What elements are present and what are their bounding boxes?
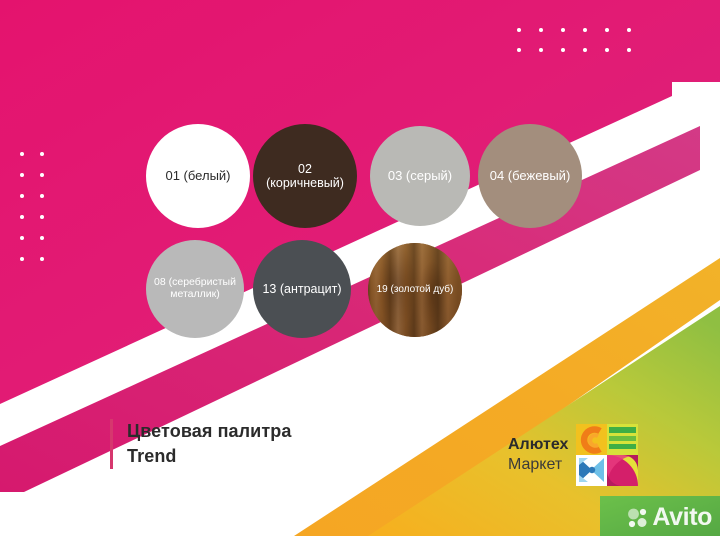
- decor-dot: [20, 173, 24, 177]
- swatch-label: 02 (коричневый): [260, 162, 350, 190]
- decor-dot: [583, 48, 587, 52]
- decor-dot: [583, 28, 587, 32]
- avito-dots-icon: [627, 507, 649, 529]
- brand-wordmark: Алютех Маркет: [508, 435, 568, 475]
- decor-dot: [40, 215, 44, 219]
- color-swatch-01-white[interactable]: 01 (белый): [146, 124, 250, 228]
- color-palette-poster: 01 (белый) 02 (коричневый) 03 (серый) 04…: [0, 0, 720, 536]
- decor-dot: [40, 236, 44, 240]
- decor-dot: [20, 152, 24, 156]
- swatch-label: 19 (золотой дуб): [371, 284, 460, 295]
- decor-dot: [605, 48, 609, 52]
- color-swatch-03-gray[interactable]: 03 (серый): [370, 126, 470, 226]
- brand-logo[interactable]: Алютех Маркет: [508, 424, 638, 486]
- brand-name-secondary: Маркет: [508, 455, 568, 475]
- decor-dot: [539, 28, 543, 32]
- decor-dot: [539, 48, 543, 52]
- color-swatch-04-beige[interactable]: 04 (бежевый): [478, 124, 582, 228]
- decor-dot: [20, 257, 24, 261]
- decor-dot: [20, 236, 24, 240]
- swatch-label: 01 (белый): [159, 169, 236, 184]
- decor-dot: [627, 48, 631, 52]
- decor-dot: [605, 28, 609, 32]
- decor-dot: [40, 152, 44, 156]
- alutech-logo-icon: [576, 424, 638, 486]
- swatch-label: 08 (серебристый металлик): [148, 277, 242, 301]
- decor-dot: [517, 28, 521, 32]
- avito-label: Avito: [652, 505, 712, 530]
- brand-name-primary: Алютех: [508, 435, 568, 455]
- decor-dot: [561, 48, 565, 52]
- decor-dot: [20, 215, 24, 219]
- swatch-label: 13 (антрацит): [256, 282, 347, 296]
- decor-dot: [40, 173, 44, 177]
- color-swatch-19-golden-oak[interactable]: 19 (золотой дуб): [368, 243, 462, 337]
- decor-dot: [561, 28, 565, 32]
- dot-grid-left: [20, 152, 60, 278]
- decor-dot: [40, 194, 44, 198]
- page-title: Цветовая палитра Trend: [127, 419, 291, 469]
- decor-dot: [627, 28, 631, 32]
- color-swatch-13-anthracite[interactable]: 13 (антрацит): [253, 240, 351, 338]
- color-swatch-08-silver-metallic[interactable]: 08 (серебристый металлик): [146, 240, 244, 338]
- title-block: Цветовая палитра Trend: [110, 419, 291, 469]
- decor-dot: [40, 257, 44, 261]
- swatch-label: 03 (серый): [382, 169, 458, 184]
- color-swatch-02-brown[interactable]: 02 (коричневый): [253, 124, 357, 228]
- swatch-label: 04 (бежевый): [484, 169, 577, 184]
- avito-watermark: Avito: [627, 505, 712, 530]
- decor-dot: [20, 194, 24, 198]
- decor-dot: [517, 48, 521, 52]
- dot-grid-top-right: [517, 28, 649, 68]
- title-accent-bar: [110, 419, 113, 469]
